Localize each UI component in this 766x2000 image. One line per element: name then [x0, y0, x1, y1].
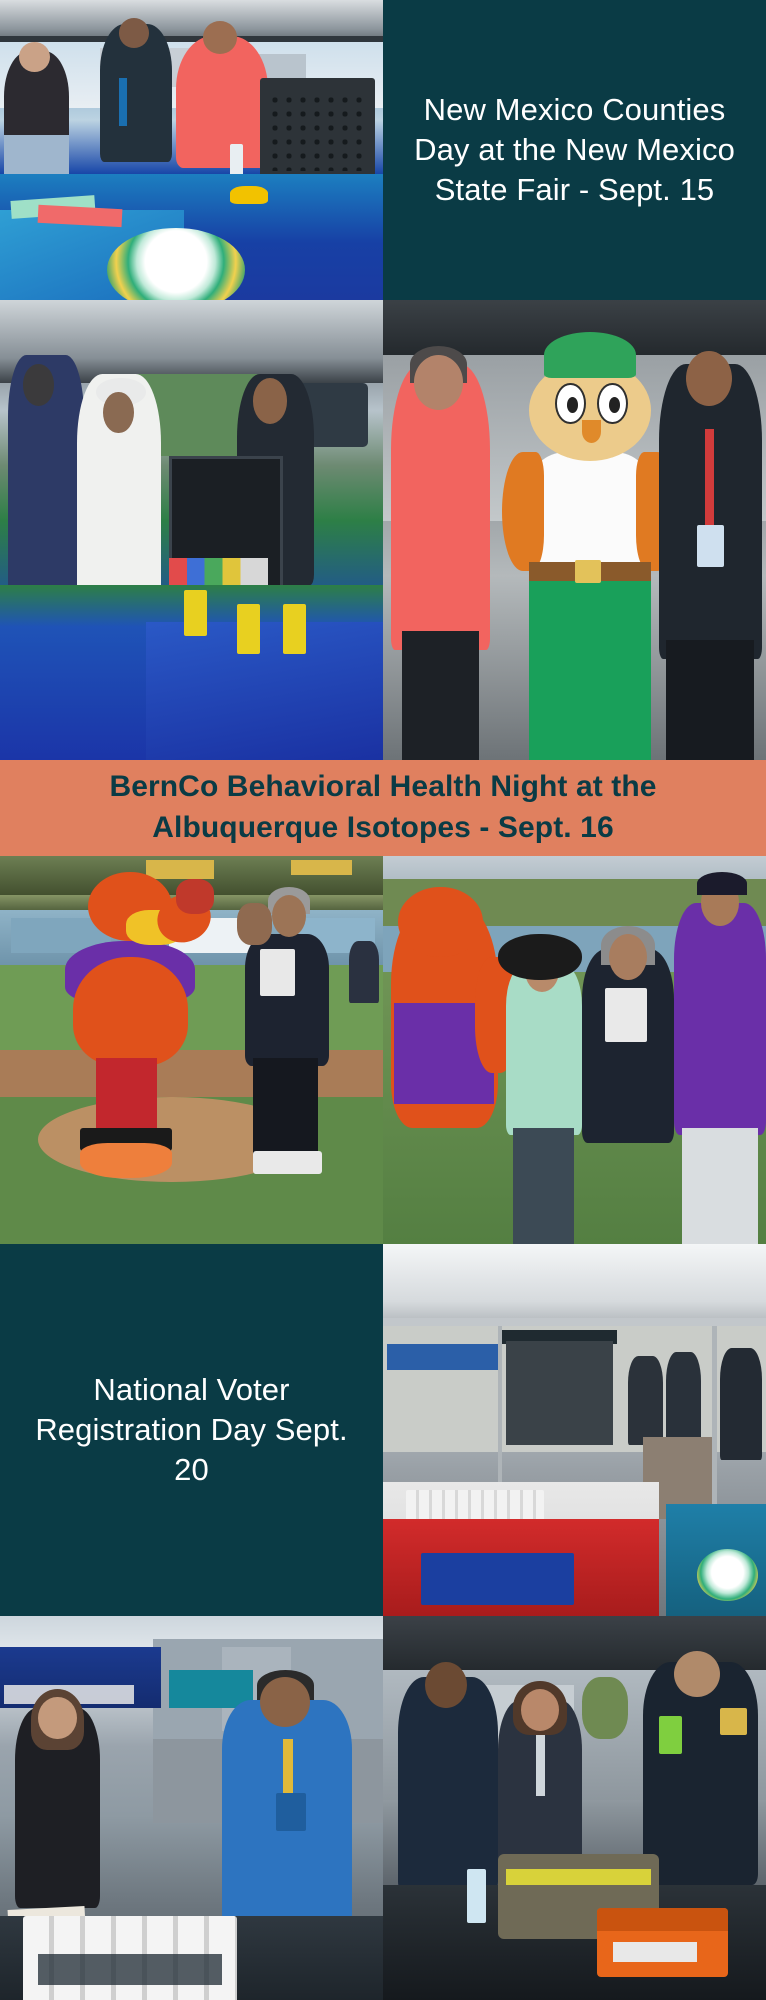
- photo-image: [383, 856, 766, 1244]
- photo-image: [383, 1616, 766, 2000]
- photo-image: [383, 300, 766, 760]
- photo-image: [383, 1244, 766, 1616]
- headline-banner-behavioral-health-night: BernCo Behavioral Health Night at the Al…: [0, 760, 766, 856]
- photo-fair-visitors-table: [0, 300, 383, 760]
- photo-county-fair-booth: [0, 0, 383, 300]
- photo-owl-mascot-group: [383, 300, 766, 760]
- headline-text: National Voter Registration Day Sept. 20: [28, 1370, 355, 1491]
- headline-text: New Mexico Counties Day at the New Mexic…: [411, 90, 738, 211]
- photo-voter-registration-tent: [383, 1244, 766, 1616]
- photo-isotopes-field-group: [383, 856, 766, 1244]
- photo-image: [0, 856, 383, 1244]
- photo-image: [0, 1616, 383, 2000]
- photo-isotopes-first-pitch: [0, 856, 383, 1244]
- photo-detention-center-booth: [0, 1616, 383, 2000]
- headline-panel-national-voter-registration-day: National Voter Registration Day Sept. 20: [0, 1244, 383, 1616]
- photo-image: [0, 0, 383, 300]
- event-collage-page: New Mexico Counties Day at the New Mexic…: [0, 0, 766, 2000]
- banner-text: BernCo Behavioral Health Night at the Al…: [0, 767, 766, 849]
- photo-image: [0, 300, 383, 760]
- photo-firefighter-gear-demo: [383, 1616, 766, 2000]
- headline-panel-nm-counties-day: New Mexico Counties Day at the New Mexic…: [383, 0, 766, 300]
